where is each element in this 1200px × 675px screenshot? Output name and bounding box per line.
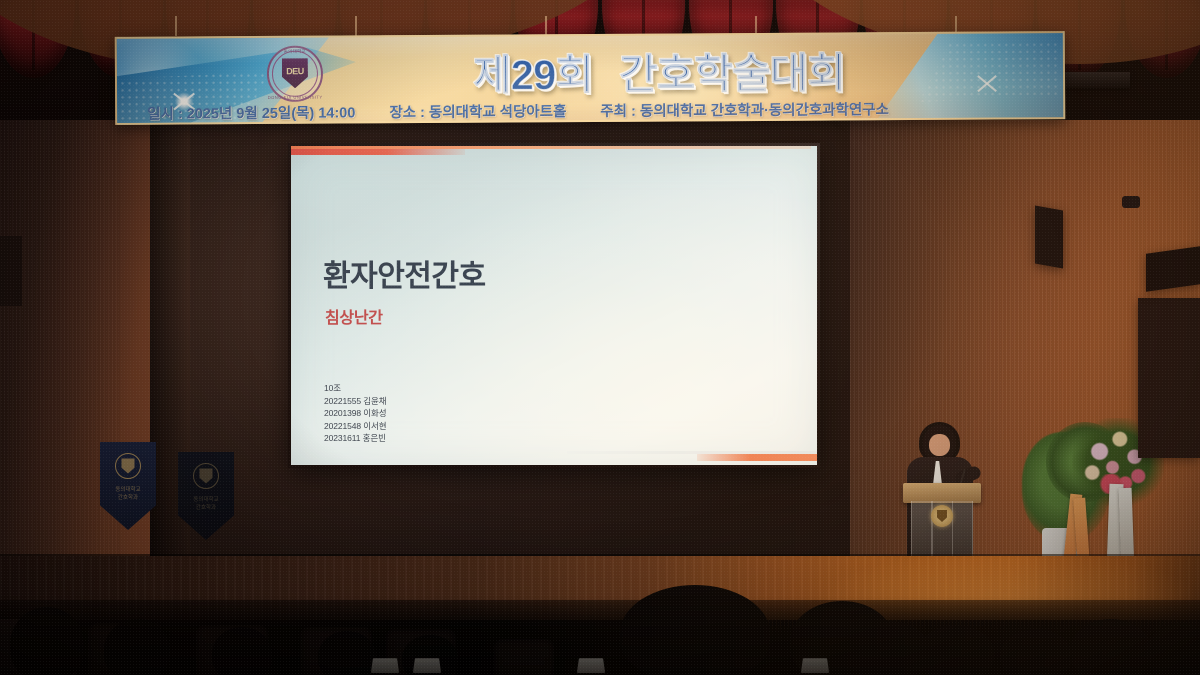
banner-panel: 동의대학교 DEU DONG-EUI UNIVERSITY 제29회 간호학술대… bbox=[115, 31, 1066, 125]
banner-details-row: 일시 : 2025년 9월 25일(목) 14:00 장소 : 동의대학교 석당… bbox=[147, 95, 1041, 124]
emblem-top-text: 동의대학교 bbox=[284, 49, 306, 55]
slide-accent-bar-bottom bbox=[697, 454, 817, 461]
wall-speaker-upper bbox=[1146, 246, 1200, 292]
emblem-mark: DEU bbox=[286, 66, 304, 76]
presenter-face bbox=[929, 434, 950, 456]
list-item: 20201398 이화성 bbox=[324, 407, 386, 420]
banner-date: 일시 : 2025년 9월 25일(목) 14:00 bbox=[147, 101, 355, 123]
list-item: 20221555 김윤채 bbox=[324, 395, 386, 408]
podium-seal-icon bbox=[931, 505, 953, 527]
slide-accent-bar-top bbox=[291, 149, 465, 155]
banner-title-edition: 제29회 bbox=[473, 40, 593, 102]
ceiling-speaker bbox=[1035, 206, 1063, 269]
pennant-emblem-icon bbox=[193, 463, 219, 489]
banner-title-name: 간호학술대회 bbox=[619, 39, 845, 101]
list-item: 20221548 이서현 bbox=[324, 420, 386, 433]
pennant-text: 동의대학교간호학과 bbox=[178, 496, 234, 512]
pennant-emblem-icon bbox=[115, 453, 141, 479]
audience-shadow bbox=[0, 596, 1200, 675]
banner-title: 제29회 간호학술대회 bbox=[329, 40, 989, 102]
podium-top-surface bbox=[903, 483, 981, 503]
slide-subtitle: 침상난간 bbox=[325, 304, 383, 328]
auditorium-scene: 동의대학교 DEU DONG-EUI UNIVERSITY 제29회 간호학술대… bbox=[0, 0, 1200, 675]
university-emblem-icon: 동의대학교 DEU DONG-EUI UNIVERSITY bbox=[267, 46, 323, 102]
banner-host: 주최 : 동의대학교 간호학과·동의간호과학연구소 bbox=[600, 98, 889, 121]
stage-spotlight-icon bbox=[1122, 196, 1140, 208]
projection-screen: 환자안전간호 침상난간 10조 20221555 김윤채 20201398 이화… bbox=[291, 146, 817, 465]
event-banner: 동의대학교 DEU DONG-EUI UNIVERSITY 제29회 간호학술대… bbox=[115, 34, 1065, 122]
wall-speaker-panel bbox=[1138, 298, 1200, 458]
list-item: 10조 bbox=[324, 382, 386, 395]
left-wall-speaker bbox=[0, 236, 22, 306]
slide-title: 환자안전간호 bbox=[323, 251, 486, 295]
pennant-text: 동의대학교간호학과 bbox=[100, 486, 156, 502]
slide-roster-list: 10조 20221555 김윤채 20201398 이화성 20221548 이… bbox=[324, 382, 386, 445]
list-item: 20231611 홍은빈 bbox=[324, 432, 386, 445]
banner-place: 장소 : 동의대학교 석당아트홀 bbox=[389, 100, 566, 122]
